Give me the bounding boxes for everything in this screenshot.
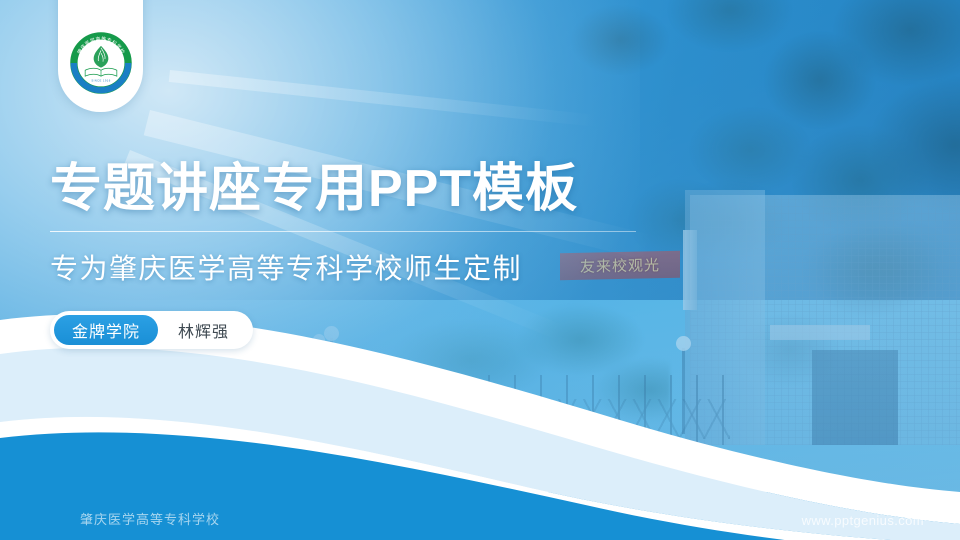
title-divider [50, 231, 636, 232]
svg-text:SINCE 1916: SINCE 1916 [91, 78, 110, 82]
ppt-cover-slide: 友来校观光 [0, 0, 960, 540]
badge-gold-college[interactable]: 金牌学院 [54, 315, 158, 345]
college-logo-icon: 肇庆医学高等专科学校 ZHAOQING MEDICAL COLLEGE [68, 30, 134, 96]
page-title: 专题讲座专用PPT模板 [50, 160, 690, 220]
badge-group: 金牌学院 林辉强 [50, 311, 253, 349]
footer-school-name: 肇庆医学高等专科学校 [80, 509, 220, 528]
college-logo-panel: 肇庆医学高等专科学校 ZHAOQING MEDICAL COLLEGE [58, 0, 143, 112]
page-subtitle: 专为肇庆医学高等专科学校师生定制 [50, 247, 690, 287]
footer-website[interactable]: www.pptgenius.com [802, 513, 924, 528]
badge-presenter-name[interactable]: 林辉强 [158, 315, 249, 345]
